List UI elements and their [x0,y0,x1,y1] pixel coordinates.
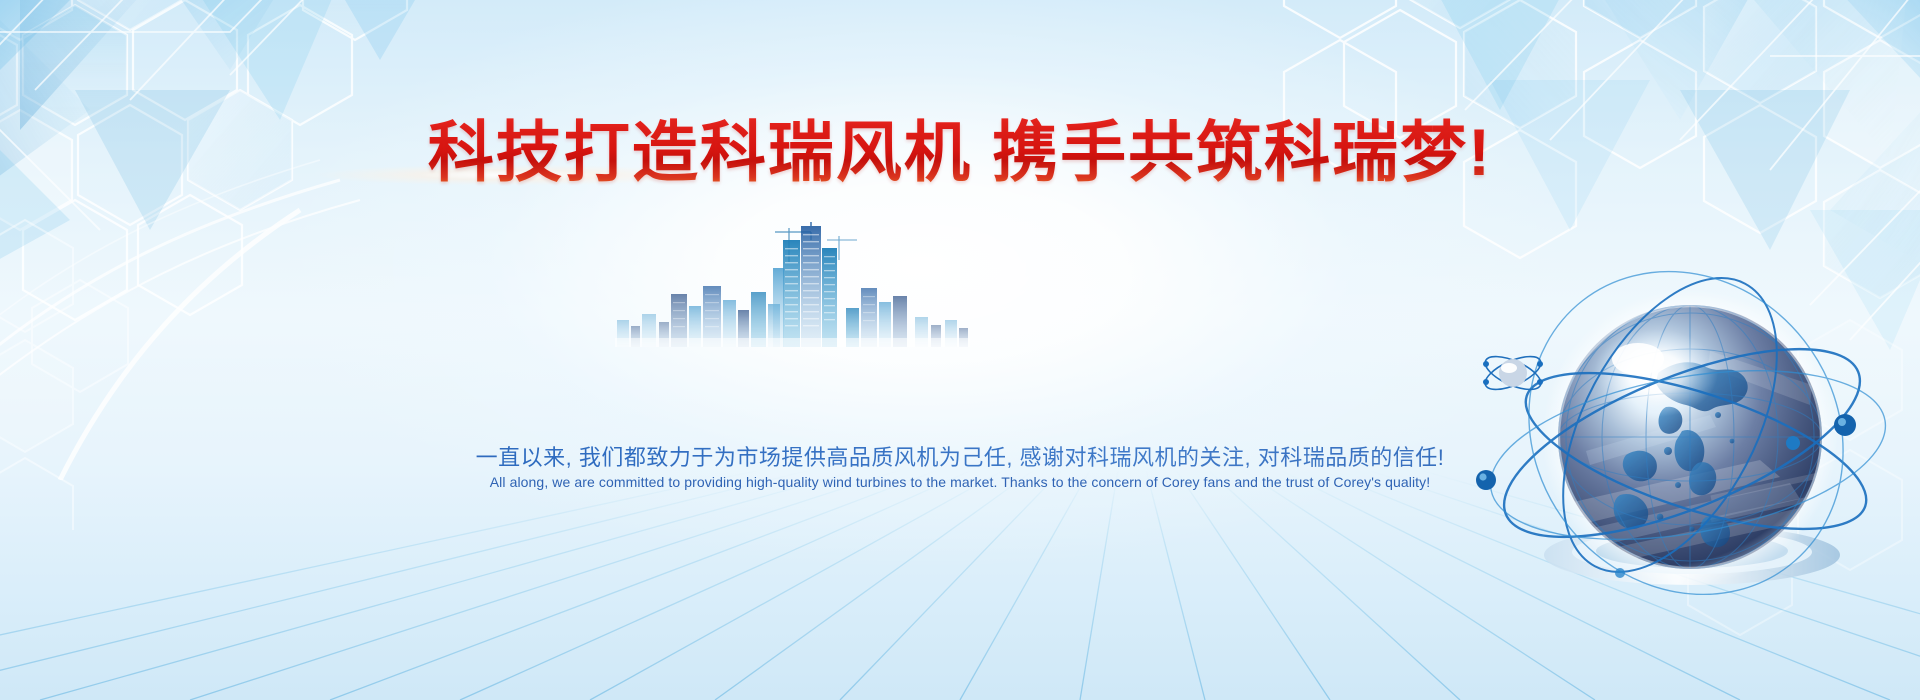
atom-icon [1481,350,1546,396]
page-title: 科技打造科瑞风机 携手共筑科瑞梦! [428,118,1492,187]
globe-3d [1460,255,1920,595]
hero-banner: 科技打造科瑞风机 携手共筑科瑞梦! 科技打造科瑞风机 携手共筑科瑞梦! 一直以来… [0,0,1920,700]
headline-wrap: 科技打造科瑞风机 携手共筑科瑞梦! 科技打造科瑞风机 携手共筑科瑞梦! [0,118,1920,187]
city-skyline [615,222,970,347]
